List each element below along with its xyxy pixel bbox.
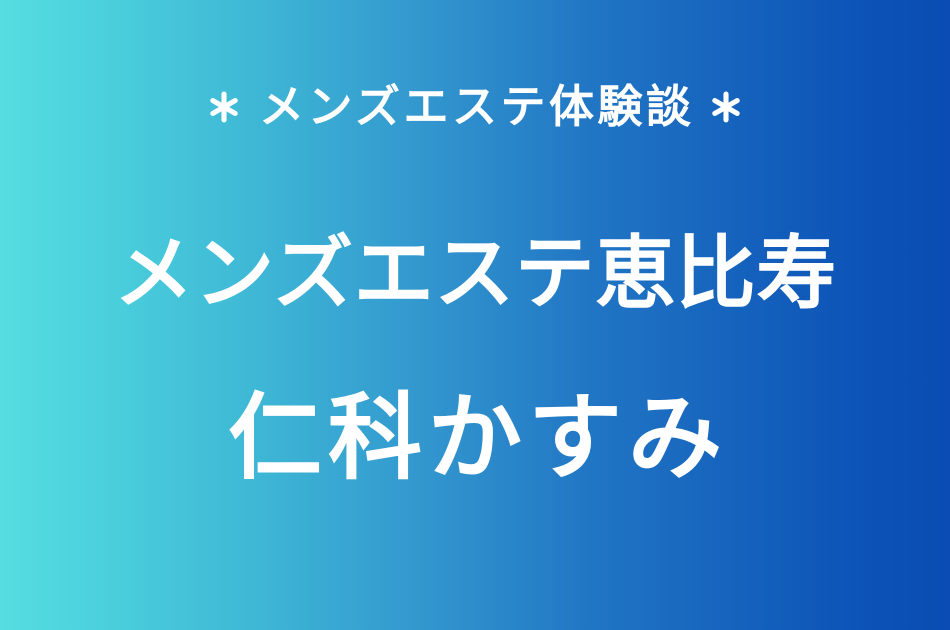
subtitle-text: メンズエステ体験談: [255, 84, 694, 129]
performer-name: 仁科かすみ: [0, 392, 950, 486]
asterisk-icon-right: [709, 90, 743, 124]
page-title: メンズエステ恵比寿: [0, 234, 950, 314]
subtitle-row: メンズエステ体験談: [0, 84, 950, 129]
promo-banner: メンズエステ体験談 メンズエステ恵比寿 仁科かすみ: [0, 0, 950, 630]
asterisk-icon-left: [207, 90, 241, 124]
